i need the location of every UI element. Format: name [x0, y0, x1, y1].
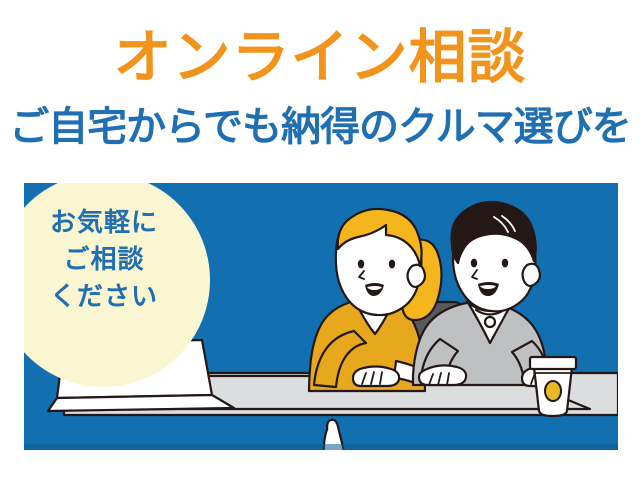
man-eye-left [471, 259, 477, 268]
online-consultation-banner: オンライン相談 ご自宅からでも納得のクルマ選びを [0, 0, 640, 480]
heading-block: オンライン相談 ご自宅からでも納得のクルマ選びを [0, 0, 640, 180]
woman-eye-left [358, 260, 364, 269]
coffee-cup-lid [530, 357, 576, 369]
woman-eye-right [389, 260, 395, 269]
illustration-panel: お気軽に ご相談 ください [24, 183, 618, 450]
page-subtitle: ご自宅からでも納得のクルマ選びを [0, 104, 640, 150]
badge-line-2: ご相談 [24, 242, 206, 279]
badge-line-1: お気軽に [24, 205, 206, 242]
badge-line-3: ください [24, 279, 206, 316]
page-title: オンライン相談 [0, 26, 640, 88]
woman-ear [408, 265, 425, 287]
woman-hand-on-desk [353, 367, 399, 387]
man-shirt-button [485, 317, 495, 327]
man-eye-right [502, 259, 508, 268]
man-hand-left [419, 365, 466, 385]
laptop-base [48, 395, 234, 411]
man-ear [523, 264, 540, 286]
panel-bottom-shadow [24, 444, 618, 450]
badge-text: お気軽に ご相談 ください [24, 205, 206, 316]
coffee-cup-logo-icon [545, 381, 561, 401]
